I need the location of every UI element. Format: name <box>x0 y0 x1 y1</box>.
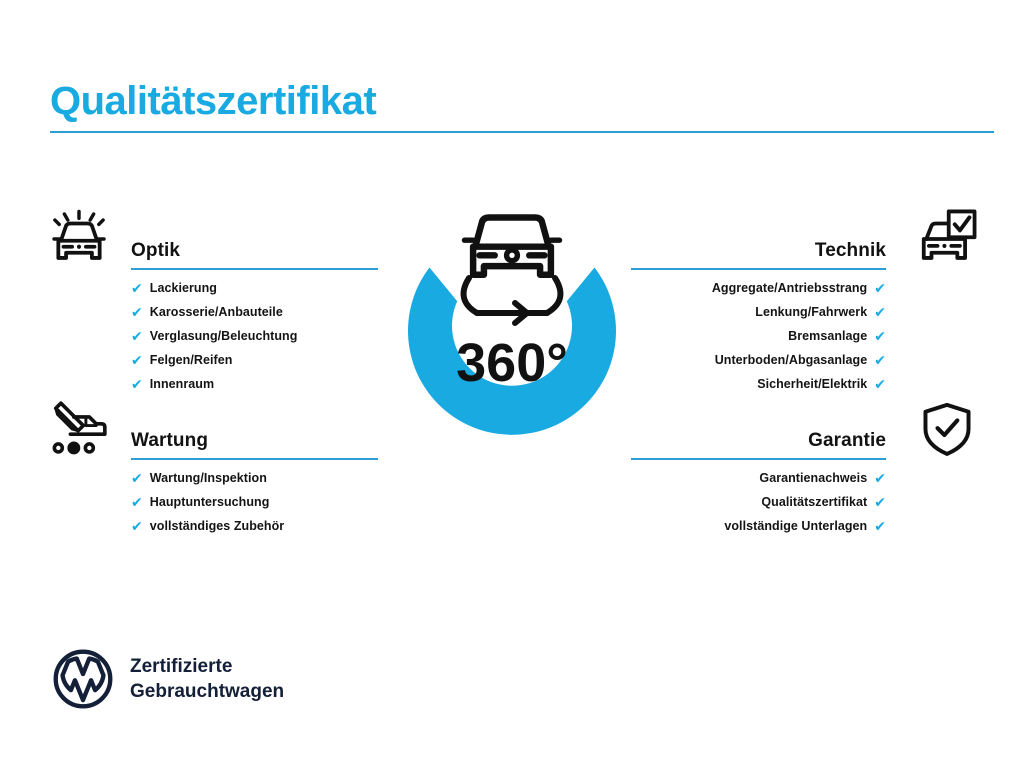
check-icon: ✔ <box>131 353 143 367</box>
rotation-arrow-icon <box>464 278 561 323</box>
check-icon: ✔ <box>131 377 143 391</box>
checklist-item: ✔Innenraum <box>131 372 297 396</box>
check-icon: ✔ <box>874 471 886 485</box>
section-underline-optik <box>131 268 378 270</box>
footer-brand: Zertifizierte Gebrauchtwagen <box>52 648 284 710</box>
check-icon: ✔ <box>874 519 886 533</box>
checklist-item-label: Hauptuntersuchung <box>150 495 270 509</box>
section-underline-technik <box>631 268 886 270</box>
checklist-item: ✔vollständiges Zubehör <box>131 514 284 538</box>
checklist-item: ✔Verglasung/Beleuchtung <box>131 324 297 348</box>
badge-value: 360° <box>456 333 568 393</box>
section-title-wartung: Wartung <box>131 430 208 452</box>
checklist-item-label: Bremsanlage <box>788 329 867 343</box>
section-wartung: Wartung✔Wartung/Inspektion✔Hauptuntersuc… <box>48 414 428 460</box>
section-underline-garantie <box>631 458 886 460</box>
page-title: Qualitätszertifikat <box>50 79 376 123</box>
checklist-item: Garantienachweis✔ <box>724 466 886 490</box>
check-icon: ✔ <box>131 281 143 295</box>
checklist-item-label: vollständige Unterlagen <box>724 519 867 533</box>
checklist-wartung: ✔Wartung/Inspektion✔Hauptuntersuchung✔vo… <box>131 466 284 538</box>
check-icon: ✔ <box>874 329 886 343</box>
checklist-item-label: Karosserie/Anbauteile <box>150 305 283 319</box>
car-rotate-icon <box>464 218 559 275</box>
section-title-garantie: Garantie <box>808 430 886 452</box>
section-technik: TechnikAggregate/Antriebsstrang✔Lenkung/… <box>598 224 978 270</box>
section-header-garantie: Garantie <box>598 414 978 460</box>
checklist-item-label: Qualitätszertifikat <box>761 495 867 509</box>
checklist-item: Lenkung/Fahrwerk✔ <box>712 300 886 324</box>
section-header-technik: Technik <box>598 224 978 270</box>
check-icon: ✔ <box>874 377 886 391</box>
check-icon: ✔ <box>874 281 886 295</box>
section-title-technik: Technik <box>815 240 886 262</box>
checklist-item-label: Sicherheit/Elektrik <box>757 377 867 391</box>
checklist-item-label: vollständiges Zubehör <box>150 519 284 533</box>
check-icon: ✔ <box>874 353 886 367</box>
checklist-item: Aggregate/Antriebsstrang✔ <box>712 276 886 300</box>
checklist-item-label: Wartung/Inspektion <box>150 471 267 485</box>
checklist-item-label: Aggregate/Antriebsstrang <box>712 281 867 295</box>
check-icon: ✔ <box>131 305 143 319</box>
footer-line-2: Gebrauchtwagen <box>130 679 284 704</box>
footer-line-1: Zertifizierte <box>130 654 284 679</box>
check-icon: ✔ <box>131 329 143 343</box>
gebrauchtwagen-check-badge: Gebrauchtwagen-Check 360° <box>373 196 651 496</box>
section-header-optik: Optik <box>48 224 428 270</box>
section-garantie: GarantieGarantienachweis✔Qualitätszertif… <box>598 414 978 460</box>
checklist-item-label: Innenraum <box>150 377 214 391</box>
check-icon: ✔ <box>874 305 886 319</box>
checklist-optik: ✔Lackierung✔Karosserie/Anbauteile✔Vergla… <box>131 276 297 396</box>
section-header-wartung: Wartung <box>48 414 428 460</box>
checklist-item: Sicherheit/Elektrik✔ <box>712 372 886 396</box>
check-icon: ✔ <box>131 471 143 485</box>
section-underline-wartung <box>131 458 378 460</box>
check-icon: ✔ <box>131 495 143 509</box>
checklist-item: Qualitätszertifikat✔ <box>724 490 886 514</box>
section-optik: Optik✔Lackierung✔Karosserie/Anbauteile✔V… <box>48 224 428 270</box>
checklist-item: ✔Lackierung <box>131 276 297 300</box>
checklist-item: vollständige Unterlagen✔ <box>724 514 886 538</box>
checklist-item-label: Lenkung/Fahrwerk <box>755 305 867 319</box>
check-icon: ✔ <box>131 519 143 533</box>
checklist-item-label: Felgen/Reifen <box>150 353 233 367</box>
section-title-optik: Optik <box>131 240 180 262</box>
checklist-garantie: Garantienachweis✔Qualitätszertifikat✔vol… <box>724 466 886 538</box>
checklist-item-label: Unterboden/Abgasanlage <box>715 353 868 367</box>
footer-brand-text: Zertifizierte Gebrauchtwagen <box>130 654 284 705</box>
checklist-item: Unterboden/Abgasanlage✔ <box>712 348 886 372</box>
title-divider <box>50 131 994 133</box>
checklist-technik: Aggregate/Antriebsstrang✔Lenkung/Fahrwer… <box>712 276 886 396</box>
checklist-item: ✔Karosserie/Anbauteile <box>131 300 297 324</box>
checklist-item-label: Lackierung <box>150 281 217 295</box>
checklist-item: Bremsanlage✔ <box>712 324 886 348</box>
volkswagen-logo-icon <box>52 648 114 710</box>
check-icon: ✔ <box>874 495 886 509</box>
checklist-item: ✔Hauptuntersuchung <box>131 490 284 514</box>
checklist-item: ✔Wartung/Inspektion <box>131 466 284 490</box>
checklist-item: ✔Felgen/Reifen <box>131 348 297 372</box>
checklist-item-label: Verglasung/Beleuchtung <box>150 329 298 343</box>
checklist-item-label: Garantienachweis <box>759 471 867 485</box>
